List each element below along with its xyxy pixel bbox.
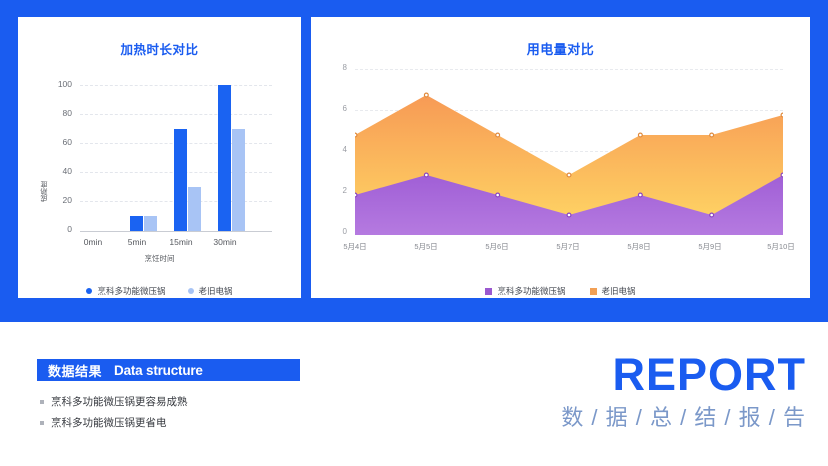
data-point[interactable] bbox=[567, 173, 571, 177]
area-x-tick: 5月7日 bbox=[538, 241, 598, 252]
data-point[interactable] bbox=[355, 193, 357, 197]
area-chart-svg bbox=[355, 69, 783, 235]
legend-dot-icon bbox=[188, 288, 194, 294]
legend-label: 老旧电锅 bbox=[199, 285, 233, 297]
area-x-tick: 5月6日 bbox=[467, 241, 527, 252]
bar-y-tick: 40 bbox=[32, 166, 72, 176]
bar-chart-baseline bbox=[80, 231, 272, 232]
area-x-tick: 5月5日 bbox=[396, 241, 456, 252]
data-point[interactable] bbox=[781, 173, 783, 177]
bar-y-tick: 0 bbox=[32, 224, 72, 234]
area-x-tick: 5月9日 bbox=[680, 241, 740, 252]
data-point[interactable] bbox=[496, 193, 500, 197]
report-branding-block: REPORT 数 / 据 / 总 / 结 / 报 / 告 bbox=[561, 350, 806, 434]
bullet-square-icon bbox=[40, 421, 44, 425]
bar-series-b[interactable] bbox=[144, 216, 157, 231]
report-subtitle: 数 / 据 / 总 / 结 / 报 / 告 bbox=[561, 402, 806, 434]
area-y-tick: 0 bbox=[331, 227, 347, 236]
area-y-tick: 8 bbox=[331, 63, 347, 72]
area-y-tick: 2 bbox=[331, 186, 347, 195]
bar-group-15min[interactable] bbox=[174, 85, 201, 231]
heading-english: Data structure bbox=[114, 363, 203, 378]
bar-y-tick: 60 bbox=[32, 137, 72, 147]
legend-item-series-b[interactable]: 老旧电锅 bbox=[188, 285, 233, 297]
legend-item-series-b[interactable]: 老旧电锅 bbox=[590, 285, 636, 297]
area-chart-legend: 烹科多功能微压锅 老旧电锅 bbox=[311, 285, 810, 297]
bar-chart-plot-area: 成熟度 100 80 60 40 20 0 bbox=[18, 63, 301, 263]
data-point[interactable] bbox=[710, 213, 714, 217]
bullet-text: 烹科多功能微压锅更容易成熟 bbox=[51, 394, 188, 409]
bullet-text: 烹科多功能微压锅更省电 bbox=[51, 415, 167, 430]
data-point[interactable] bbox=[424, 173, 428, 177]
bullet-item: 烹科多功能微压锅更容易成熟 bbox=[40, 394, 188, 409]
data-point[interactable] bbox=[638, 133, 642, 137]
legend-label: 老旧电锅 bbox=[602, 285, 636, 297]
data-point[interactable] bbox=[710, 133, 714, 137]
data-point[interactable] bbox=[638, 193, 642, 197]
bar-series-a[interactable] bbox=[130, 216, 143, 231]
legend-dot-icon bbox=[86, 288, 92, 294]
bar-chart-title: 加热时长对比 bbox=[18, 39, 301, 58]
area-x-tick: 5月10日 bbox=[751, 241, 811, 252]
heading-chinese: 数据结果 bbox=[48, 361, 102, 380]
bar-series-a[interactable] bbox=[174, 129, 187, 231]
legend-square-icon bbox=[590, 288, 597, 295]
area-chart-title: 用电量对比 bbox=[311, 39, 810, 58]
bar-chart-x-axis-title: 烹饪时间 bbox=[18, 253, 301, 264]
area-chart-card: 用电量对比 8 6 4 2 0 bbox=[311, 17, 810, 298]
bar-chart-card: 加热时长对比 成熟度 100 80 60 40 20 0 bbox=[18, 17, 301, 298]
area-x-tick: 5月8日 bbox=[609, 241, 669, 252]
area-y-tick: 4 bbox=[331, 145, 347, 154]
bar-x-tick: 30min bbox=[195, 237, 255, 247]
area-y-tick: 6 bbox=[331, 104, 347, 113]
bar-y-tick: 100 bbox=[32, 79, 72, 89]
data-point[interactable] bbox=[355, 133, 357, 137]
bar-series-a[interactable] bbox=[218, 85, 231, 231]
bullet-square-icon bbox=[40, 400, 44, 404]
bar-series-b[interactable] bbox=[188, 187, 201, 231]
area-chart-plot-area: 8 6 4 2 0 5月4日 5月5日 5月6日 5月7日 bbox=[311, 63, 810, 263]
legend-item-series-a[interactable]: 烹科多功能微压锅 bbox=[485, 285, 565, 297]
legend-square-icon bbox=[485, 288, 492, 295]
bar-series-b[interactable] bbox=[232, 129, 245, 231]
legend-item-series-a[interactable]: 烹科多功能微压锅 bbox=[86, 285, 165, 297]
bar-y-tick: 80 bbox=[32, 108, 72, 118]
data-point[interactable] bbox=[424, 93, 428, 97]
bar-group-30min[interactable] bbox=[218, 85, 245, 231]
bullet-item: 烹科多功能微压锅更省电 bbox=[40, 415, 167, 430]
bottom-summary-section: 数据结果 Data structure 烹科多功能微压锅更容易成熟 烹科多功能微… bbox=[0, 322, 828, 466]
bar-chart-legend: 烹科多功能微压锅 老旧电锅 bbox=[18, 285, 301, 297]
data-point[interactable] bbox=[781, 113, 783, 117]
data-point[interactable] bbox=[496, 133, 500, 137]
legend-label: 烹科多功能微压锅 bbox=[97, 285, 165, 297]
legend-label: 烹科多功能微压锅 bbox=[497, 285, 565, 297]
bar-group-0min[interactable] bbox=[86, 85, 113, 231]
data-point[interactable] bbox=[567, 213, 571, 217]
data-structure-heading-bar: 数据结果 Data structure bbox=[37, 359, 300, 381]
report-title: REPORT bbox=[561, 350, 806, 400]
bar-y-tick: 20 bbox=[32, 195, 72, 205]
area-x-tick: 5月4日 bbox=[325, 241, 385, 252]
bar-group-5min[interactable] bbox=[130, 85, 157, 231]
